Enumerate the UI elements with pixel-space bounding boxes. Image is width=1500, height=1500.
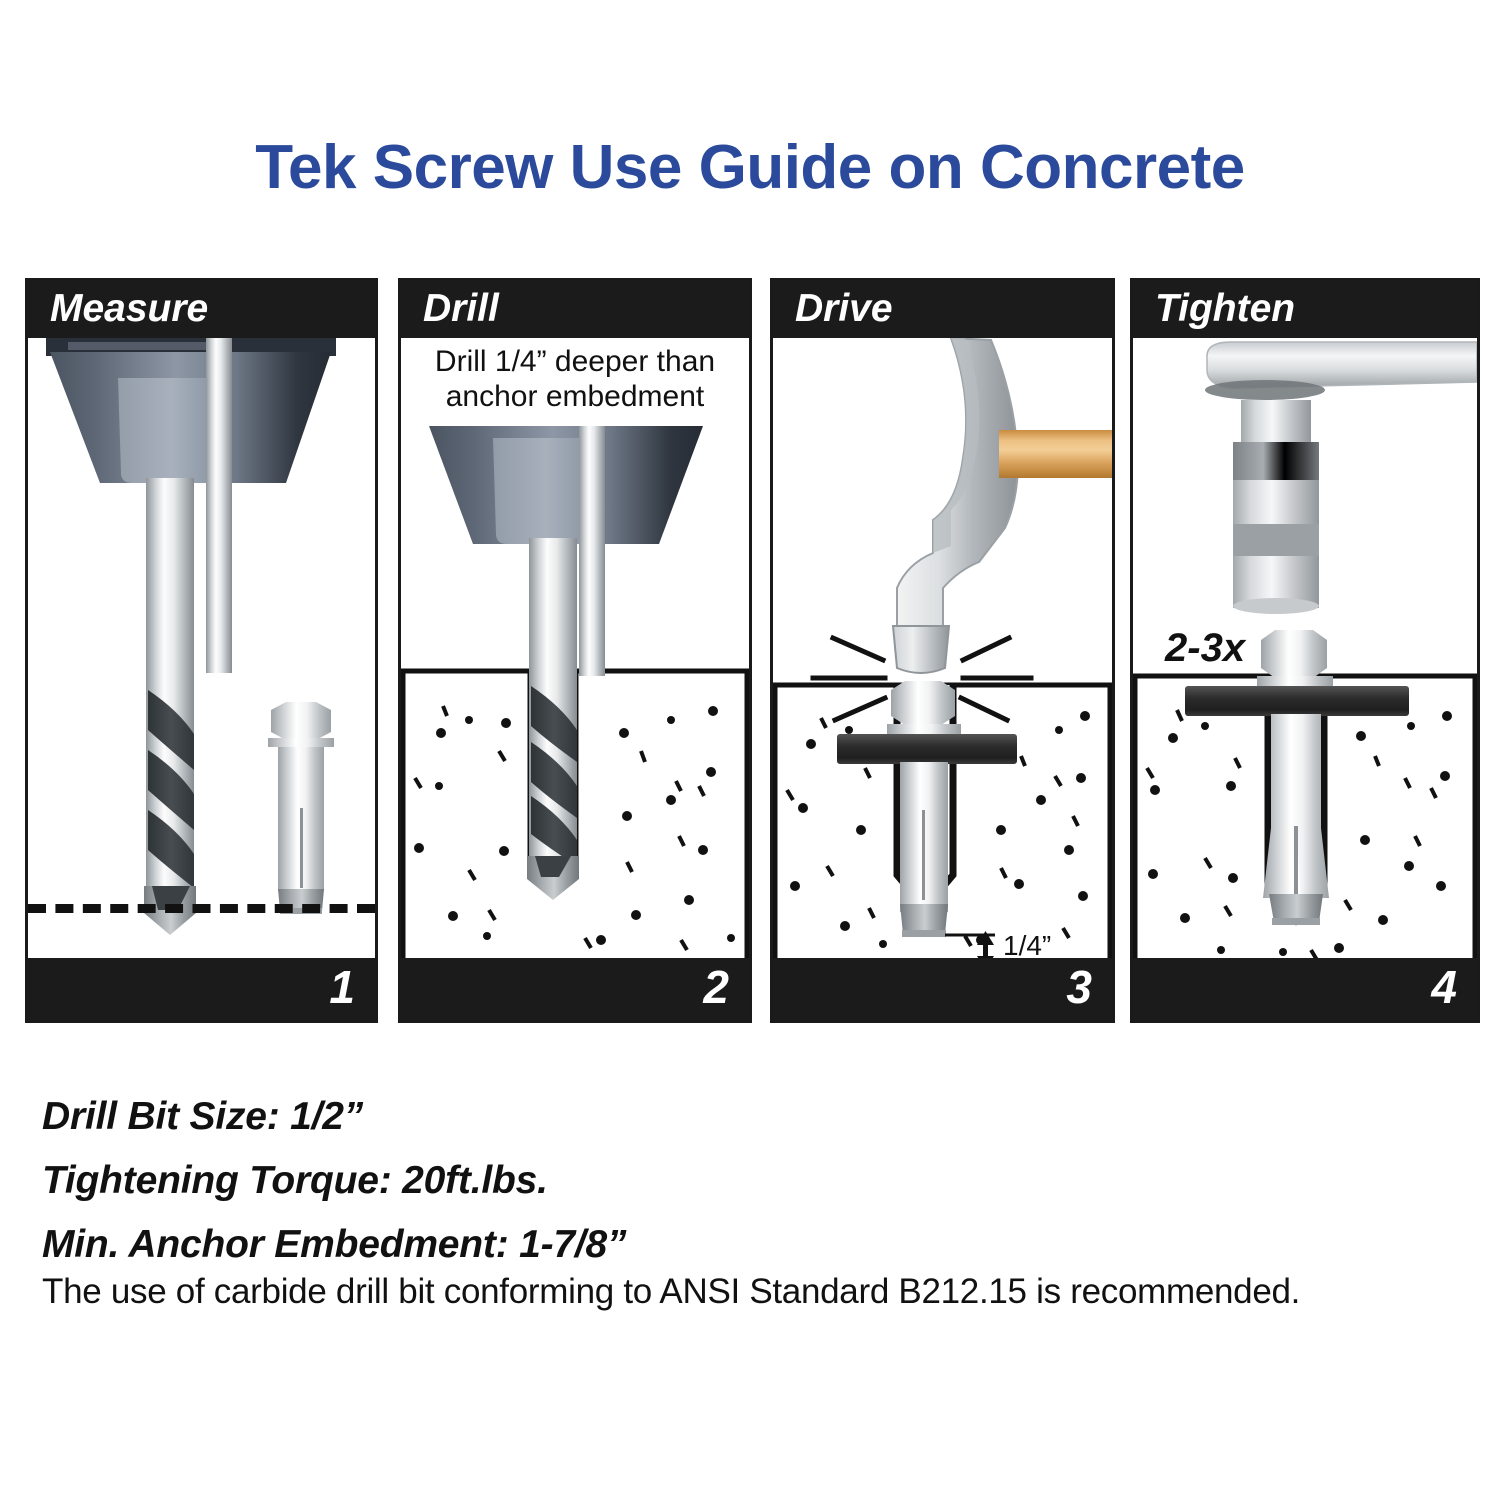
panel-number: 3 [1066,960,1092,1014]
mounting-plate [837,734,1017,764]
panel-header-drill: Drill [401,281,749,338]
spec-min-anchor-embedment: Min. Anchor Embedment: 1-7/8” [42,1223,1442,1267]
tighten-repetitions-label: 2-3x [1165,626,1245,671]
page-title: Tek Screw Use Guide on Concrete [0,132,1500,203]
specifications-list: Drill Bit Size: 1/2” Tightening Torque: … [42,1095,1442,1287]
panel-footer-drive: 3 [773,958,1112,1020]
panel-footer-measure: 1 [28,958,375,1020]
depth-dimension-label: 1/4” [1003,930,1051,958]
measure-dashed-line [28,904,375,913]
panel-measure: Measure [25,278,378,1023]
drive-illustration [773,338,1112,958]
panel-tighten: Tighten [1130,278,1480,1023]
footnote-text: The use of carbide drill bit conforming … [42,1272,1300,1312]
hammer [893,338,1112,673]
panel-header-label: Drive [795,287,893,331]
drill-bit [527,538,579,900]
depth-gauge-rod [206,338,232,673]
panel-header-label: Measure [50,287,208,331]
spec-tightening-torque: Tightening Torque: 20ft.lbs. [42,1159,1442,1203]
panel-drill: Drill Drill 1/4” deeper than anchor embe… [398,278,752,1023]
panel-number: 4 [1431,960,1457,1014]
panel-body-drill: Drill 1/4” deeper than anchor embedment [401,338,749,958]
panel-drive: Drive [770,278,1115,1023]
measure-illustration [28,338,375,958]
anchor-bolt [268,702,334,914]
panel-header-measure: Measure [28,281,375,338]
panel-header-label: Drill [423,287,499,331]
hammer-handle [999,430,1112,478]
panel-footer-tighten: 4 [1133,958,1477,1020]
depth-gauge-rod [579,426,605,676]
panel-header-drive: Drive [773,281,1112,338]
drill-chuck [46,338,336,483]
panel-header-label: Tighten [1155,287,1295,331]
panel-header-tighten: Tighten [1133,281,1477,338]
drill-bit [144,478,196,935]
panel-number: 1 [329,960,355,1014]
socket-wrench [1205,342,1477,614]
drill-chuck [429,426,703,544]
panel-footer-drill: 2 [401,958,749,1020]
drill-illustration [401,338,749,958]
panel-number: 2 [703,960,729,1014]
mounting-plate [1185,686,1409,716]
guide-page: Tek Screw Use Guide on Concrete Measure [0,0,1500,1500]
panel-body-tighten: 2-3x [1133,338,1477,958]
panel-body-drive: 1/4” [773,338,1112,958]
panel-body-measure [28,338,375,958]
spec-drill-bit-size: Drill Bit Size: 1/2” [42,1095,1442,1139]
